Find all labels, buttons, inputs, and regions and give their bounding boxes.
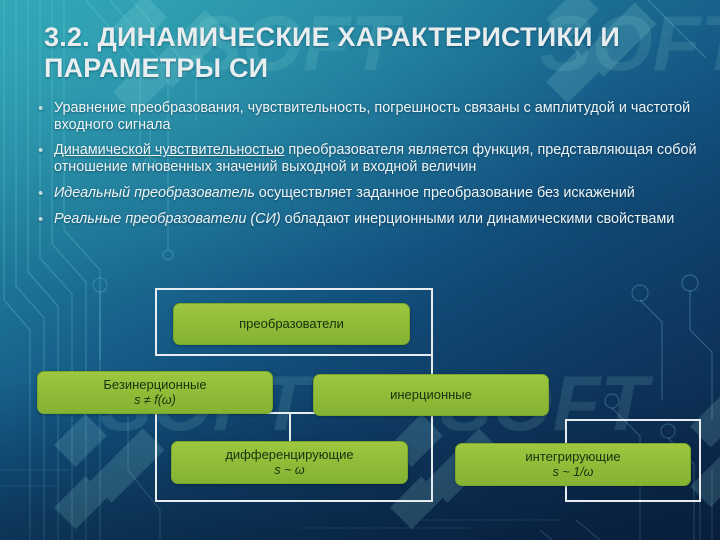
connector-stub-inertial: [431, 288, 433, 374]
slide: SOFT SOFT SOFT SOFT 3.2. Динамические ха…: [0, 0, 720, 540]
node-formula: s ≠ f(ω): [134, 393, 176, 408]
node-label: дифференцирующие: [225, 447, 353, 462]
node-label: преобразователи: [239, 316, 344, 331]
diagram-node-root[interactable]: преобразователи: [173, 303, 410, 345]
node-label: Безинерционные: [103, 377, 206, 392]
node-label: интегрирующие: [525, 449, 620, 464]
diagram-node-bezinercionnye[interactable]: Безинерционные s ≠ f(ω): [37, 371, 273, 414]
hierarchy-diagram: преобразователи Безинерционные s ≠ f(ω) …: [0, 0, 720, 540]
diagram-node-inercionnye[interactable]: инерционные: [313, 374, 549, 416]
node-formula: s ~ 1/ω: [553, 465, 594, 480]
diagram-node-integriruyushchie[interactable]: интегрирующие s ~ 1/ω: [455, 443, 691, 486]
node-label: инерционные: [390, 387, 472, 402]
node-formula: s ~ ω: [274, 463, 304, 478]
diagram-node-differenciruyushchie[interactable]: дифференцирующие s ~ ω: [171, 441, 408, 484]
connector-stub-differentiating: [289, 412, 291, 444]
